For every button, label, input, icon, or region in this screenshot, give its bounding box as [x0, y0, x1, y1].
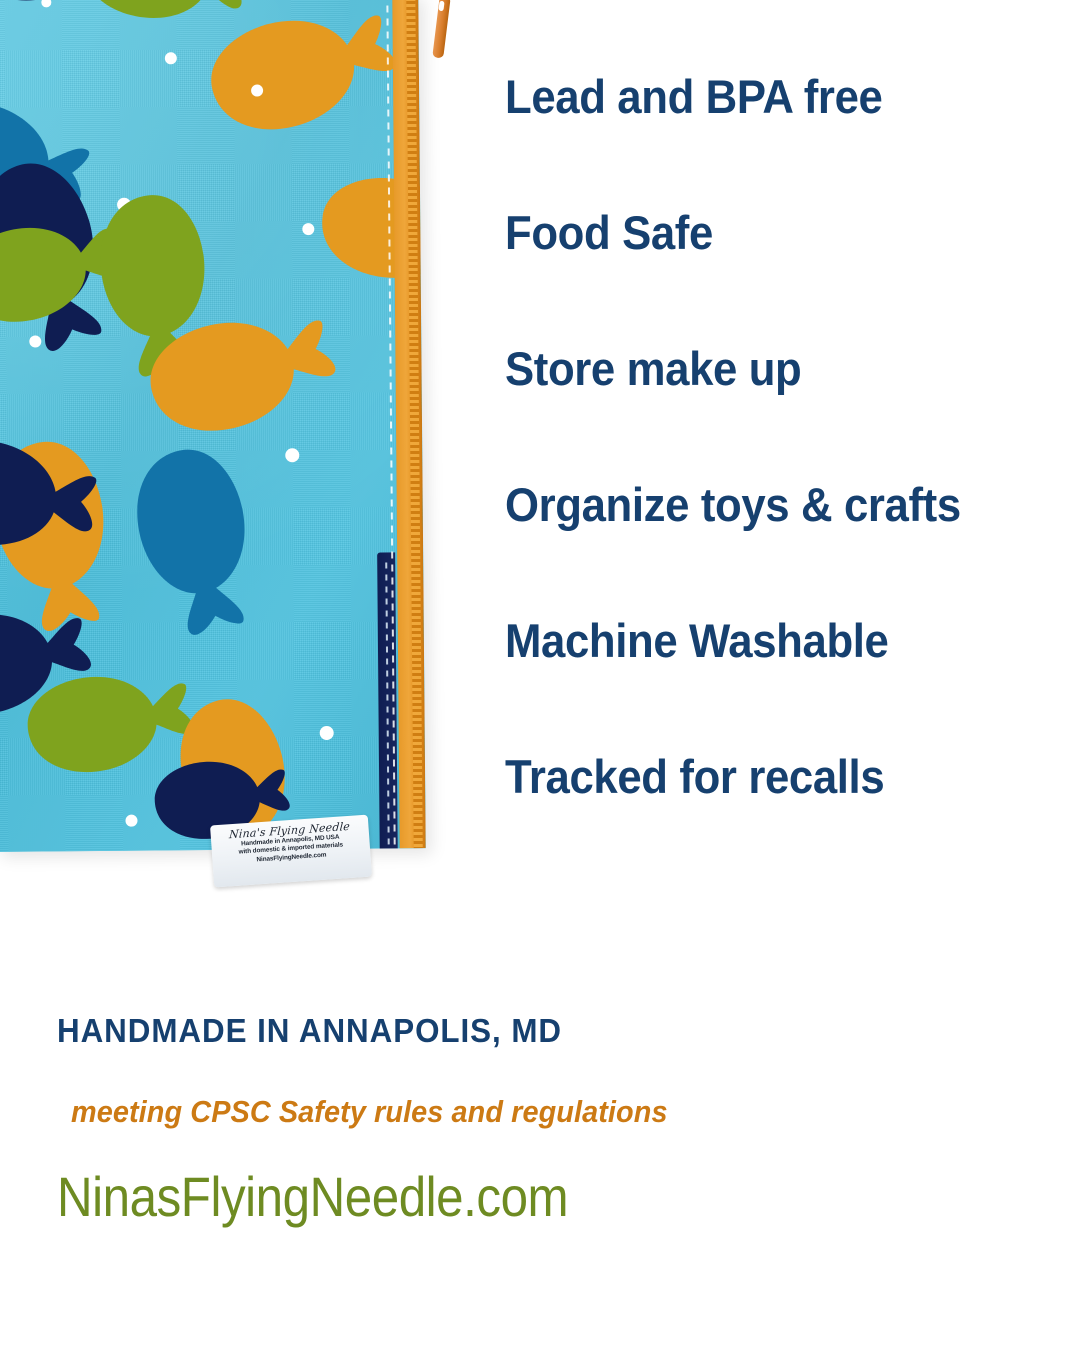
website-url-text[interactable]: NinasFlyingNeedle.com	[57, 1164, 957, 1229]
zipper-teeth	[406, 0, 422, 848]
footer-block: HANDMADE IN ANNAPOLIS, MD meeting CPSC S…	[0, 1012, 1080, 1229]
zipper-pull-icon	[432, 0, 454, 62]
cpsc-compliance-text: meeting CPSC Safety rules and regulation…	[71, 1094, 1009, 1130]
benefit-label: Tracked for recalls	[505, 752, 1007, 801]
benefit-label: Store make up	[505, 344, 1007, 393]
benefit-label: Machine Washable	[505, 616, 1007, 665]
fabric-brand-label: Nina's Flying Needle Handmade in Annapol…	[210, 815, 372, 888]
benefit-item-lead-bpa-free: Lead and BPA free	[505, 72, 1045, 208]
handmade-location-text: HANDMADE IN ANNAPOLIS, MD	[57, 1012, 1029, 1050]
benefit-item-tracked-for-recalls: Tracked for recalls	[505, 752, 1045, 888]
whale-fabric-background	[0, 0, 426, 852]
benefit-label: Lead and BPA free	[505, 72, 1007, 121]
zipper-pouch	[0, 0, 426, 852]
product-photo: Nina's Flying Needle Handmade in Annapol…	[0, 0, 480, 900]
benefit-label: Organize toys & crafts	[505, 480, 1007, 529]
benefit-item-store-make-up: Store make up	[505, 344, 1045, 480]
benefits-list: Lead and BPA free Food Safe Store make u…	[505, 72, 1045, 888]
benefit-item-food-safe: Food Safe	[505, 208, 1045, 344]
benefit-label: Food Safe	[505, 208, 1007, 257]
benefit-item-machine-washable: Machine Washable	[505, 616, 1045, 752]
benefit-item-organize-toys-crafts: Organize toys & crafts	[505, 480, 1045, 616]
